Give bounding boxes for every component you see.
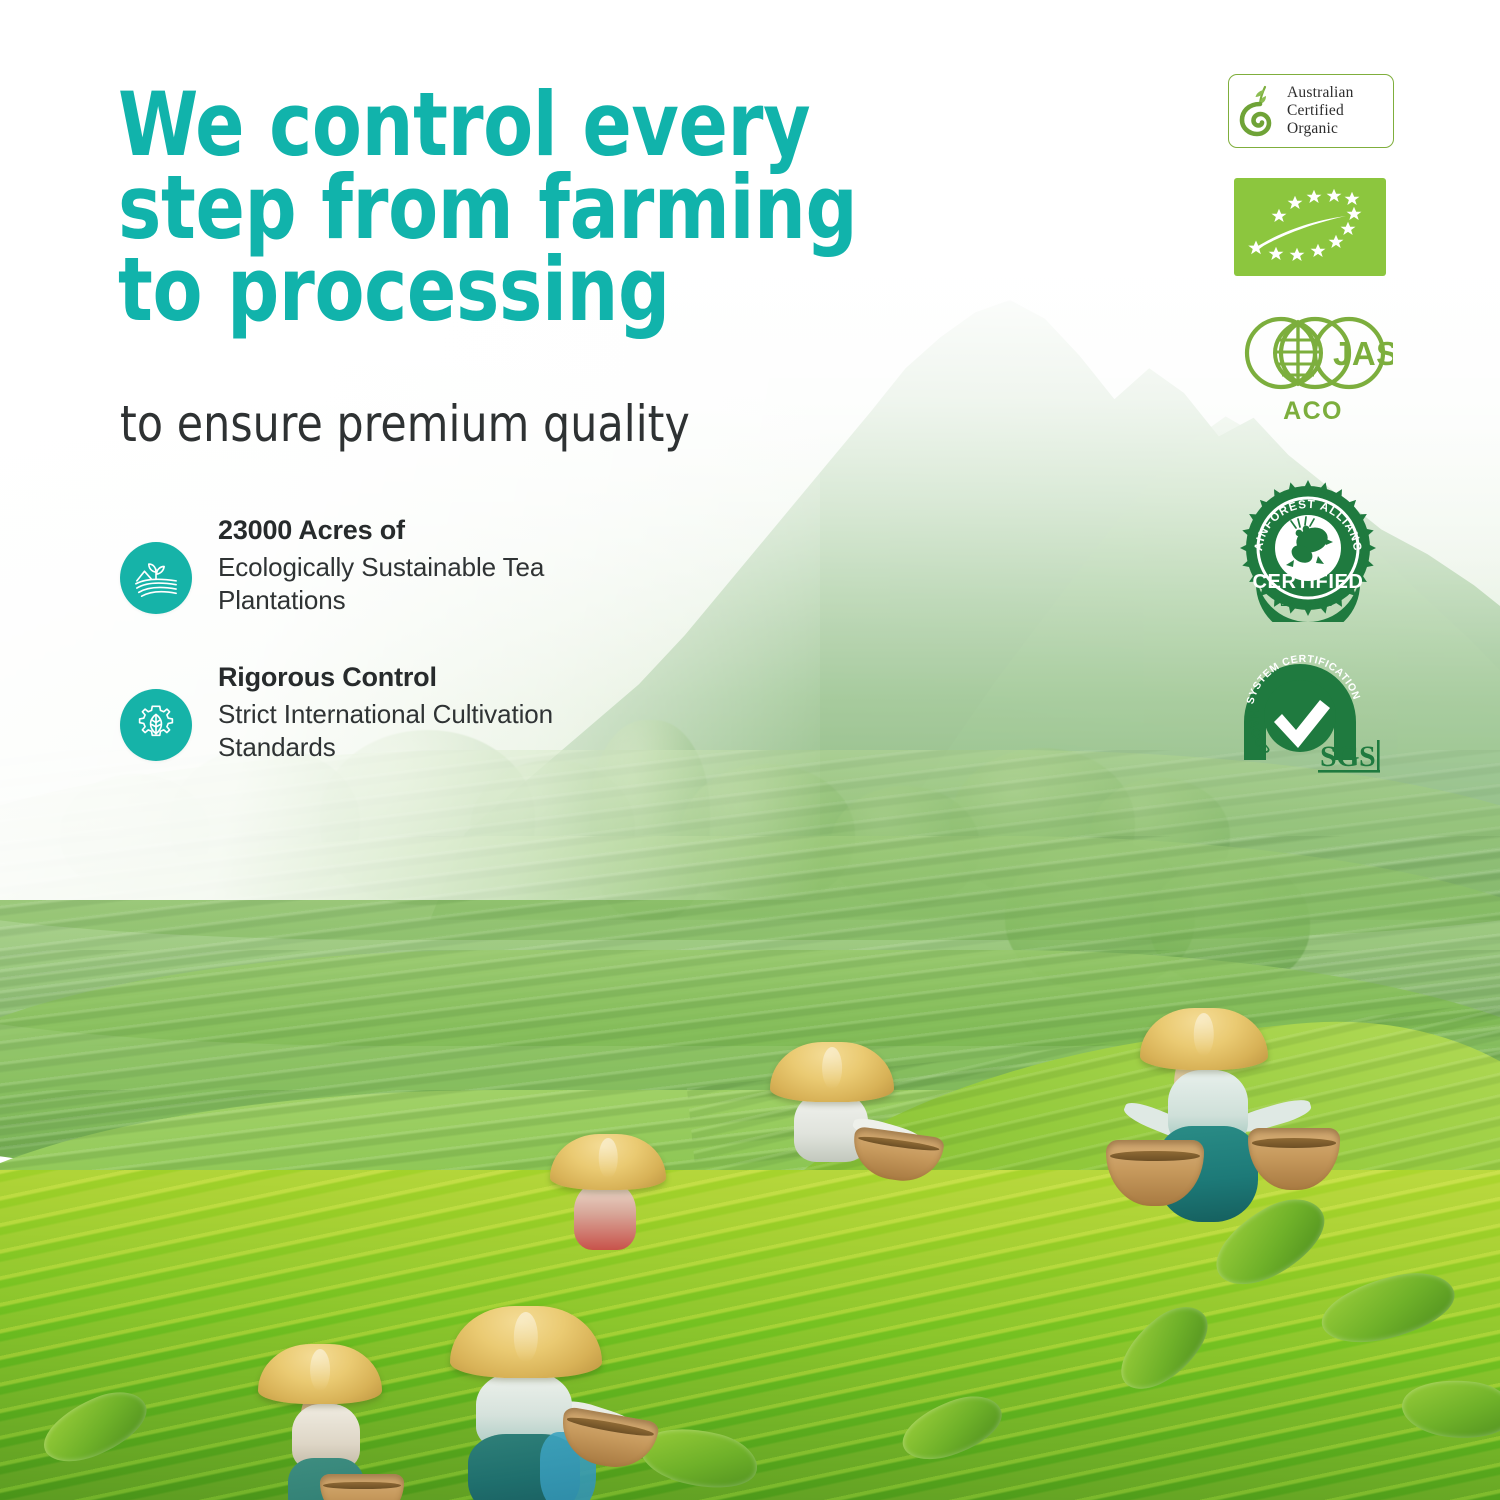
rainforest-alliance-frog-seal-icon: RAINFOREST ALLIANCE (1236, 478, 1380, 627)
badge-rainforest-alliance-certified: RAINFOREST ALLIANCE (1236, 478, 1380, 622)
ra-established-text: EST 1987 (1280, 598, 1335, 609)
banner-content: We control every step from farming to pr… (0, 0, 1500, 1500)
jas-wordmark: JAS (1333, 335, 1393, 372)
aco-label: Australian Certified Organic (1287, 84, 1354, 138)
badge-jas-aco: JAS ACO (1228, 310, 1398, 426)
feature-title: Rigorous Control (218, 661, 648, 694)
headline-line-1: We control every (118, 84, 891, 167)
headline-line-2: step from farming (118, 167, 891, 250)
sgs-wordmark: SGS (1320, 740, 1375, 773)
feature-description: Ecologically Sustainable Tea Plantations (218, 551, 648, 617)
feature-item-control: Rigorous Control Strict International Cu… (120, 659, 780, 764)
feature-description: Strict International Cultivation Standar… (218, 698, 648, 764)
feature-title: 23000 Acres of (218, 514, 648, 547)
aco-line-3: Organic (1287, 120, 1354, 138)
page-title: We control every step from farming to pr… (118, 84, 891, 332)
feature-text: 23000 Acres of Ecologically Sustainable … (218, 512, 648, 617)
ra-certified-banner-text: CERTIFIED (1253, 571, 1364, 593)
certification-badges: Australian Certified Organic (1228, 74, 1404, 776)
feature-item-acreage: 23000 Acres of Ecologically Sustainable … (120, 512, 780, 617)
badge-sgs-haccp: SYSTEM CERTIFICATION HACCP SGS (1234, 648, 1384, 776)
sgs-checkmark-icon: SYSTEM CERTIFICATION HACCP SGS (1234, 648, 1384, 781)
aco-line-1: Australian (1287, 84, 1354, 102)
gear-leaf-quality-control-icon (120, 689, 192, 761)
badge-australian-certified-organic: Australian Certified Organic (1228, 74, 1394, 148)
eu-organic-leaf-stars-icon (1234, 178, 1386, 276)
badge-eu-organic (1234, 178, 1386, 276)
subtitle: to ensure premium quality (120, 398, 956, 450)
jas-leaf-circles-icon: JAS (1228, 310, 1398, 401)
feature-list: 23000 Acres of Ecologically Sustainable … (120, 512, 780, 806)
aco-spiral-leaf-icon (1235, 82, 1287, 140)
banner-stage: We control every step from farming to pr… (0, 0, 1500, 1500)
headline-line-3: to processing (118, 249, 891, 332)
tea-plantation-field-icon (120, 542, 192, 614)
feature-text: Rigorous Control Strict International Cu… (218, 659, 648, 764)
aco-line-2: Certified (1287, 102, 1354, 120)
jas-aco-sublabel: ACO (1228, 397, 1398, 426)
